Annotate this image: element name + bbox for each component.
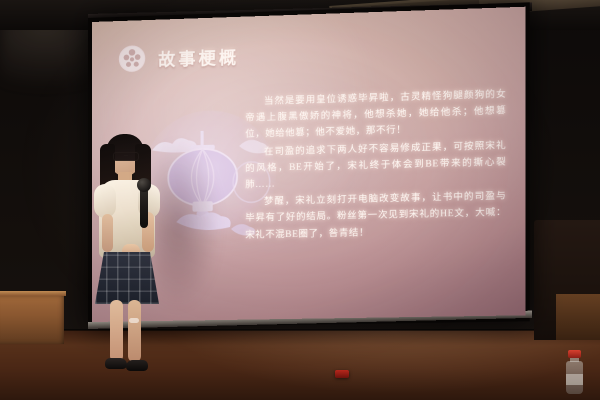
knee-highlight [129, 318, 139, 323]
shoe-left [105, 358, 127, 369]
presentation-scene: 故事梗概 [0, 0, 600, 400]
bottle-label [566, 374, 583, 385]
arm-left [102, 214, 113, 252]
sleeve-left [94, 184, 116, 218]
podium-top-surface [0, 291, 66, 296]
presenter-figure [86, 132, 172, 384]
glasses-icon [113, 152, 139, 161]
cabinet-front-panel [556, 294, 600, 340]
leg-right [128, 300, 141, 362]
leg-left [110, 300, 123, 362]
water-bottle [566, 350, 583, 394]
red-object-on-floor [335, 370, 349, 378]
bottle-cap [568, 350, 581, 358]
wooden-podium [0, 292, 64, 344]
microphone-icon [137, 178, 151, 192]
floor-reflection [150, 330, 600, 400]
shoe-right [126, 360, 148, 371]
plaid-skirt [95, 252, 159, 304]
